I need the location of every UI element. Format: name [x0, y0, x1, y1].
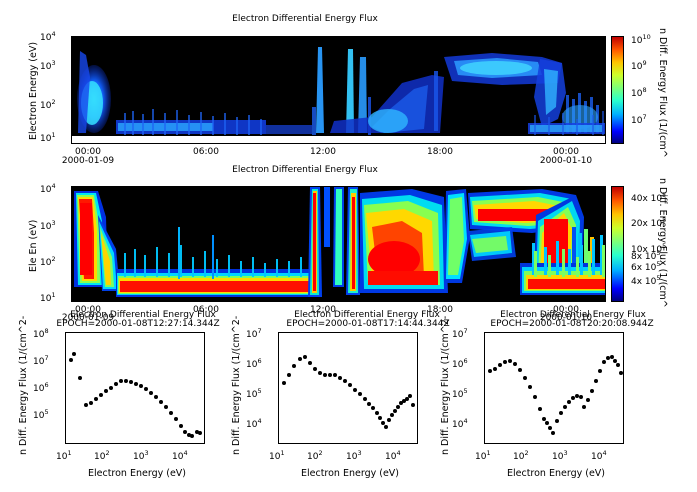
spectrum-1-xtick-1: 101: [56, 452, 72, 462]
spectrum-3-xtick-1: 101: [475, 452, 491, 462]
spectrum-1-xtick-4: 104: [172, 452, 188, 462]
spectrum-1-ylabel: n Diff. Energy Flux (1/(cm^2-: [18, 316, 29, 455]
spectrum-3-xtick-2: 102: [513, 452, 529, 462]
spectrum-3-plot[interactable]: [484, 332, 624, 444]
spectrum-2-ytick-4: 104: [246, 420, 262, 430]
mid-ytick-2: 102: [40, 258, 56, 268]
spectrum-3-ytick-6: 106: [452, 360, 468, 370]
spectrum-2-points: [279, 333, 417, 443]
spectrum-2-xtick-4: 104: [385, 452, 401, 462]
top-panel-ylabel: Electron Energy (eV): [28, 42, 39, 140]
top-spectrogram-image: [72, 37, 605, 143]
spectrum-1-ytick-8: 108: [33, 330, 49, 340]
spectrum-2-ytick-5: 105: [246, 390, 262, 400]
top-cbtick-9: 109: [631, 62, 647, 72]
spectrum-3-xtick-4: 104: [591, 452, 607, 462]
mid-panel-title: Electron Differential Energy Flux: [155, 165, 455, 175]
mid-colorbar[interactable]: [611, 186, 624, 302]
top-ytick-3: 103: [40, 62, 56, 72]
top-spectrogram-plot[interactable]: [71, 36, 606, 144]
spectrum-1-xlabel: Electron Energy (eV): [72, 468, 202, 479]
spectrum-3-ytick-7: 107: [452, 330, 468, 340]
spectrum-1-ytick-7: 107: [33, 357, 49, 367]
mid-colorbar-label: n Diff. Energy Flux (1/(cm^: [657, 178, 668, 308]
top-panel-title: Electron Differential Energy Flux: [155, 14, 455, 24]
top-colorbar[interactable]: [611, 36, 624, 144]
top-xdate-right: 2000-01-10: [530, 156, 602, 166]
spectrum-2-ytick-6: 106: [246, 360, 262, 370]
spectrum-1-xtick-2: 102: [94, 452, 110, 462]
mid-panel-ylabel: Ele En (eV): [28, 220, 39, 272]
spectrum-3-xtick-3: 103: [552, 452, 568, 462]
top-xtick-2: 12:00: [297, 147, 349, 157]
top-ytick-1: 101: [40, 134, 56, 144]
mid-colorbar-label-wrap: n Diff. Energy Flux (1/(cm^: [668, 178, 697, 189]
top-xdate-left: 2000-01-09: [52, 156, 124, 166]
mid-ytick-1: 101: [40, 294, 56, 304]
mid-spectrogram-image: [72, 187, 605, 301]
spectrum-2-xlabel: Electron Energy (eV): [285, 468, 415, 479]
spectrum-1-xtick-3: 103: [133, 452, 149, 462]
spectrum-2-ylabel: n Diff. Energy Flux (1/(cm^2-: [231, 316, 242, 455]
spectrum-3-subtitle: EPOCH=2000-01-08T20:20:08.944Z: [452, 319, 692, 329]
spectrum-2-ytick-7: 107: [246, 330, 262, 340]
mid-spectrogram-plot[interactable]: [71, 186, 606, 302]
spectrum-3-ylabel: n Diff. Energy Flux (1/(cm^2-: [440, 316, 451, 455]
spectrum-1-ytick-5: 105: [33, 411, 49, 421]
spectrum-1-ytick-6: 106: [33, 384, 49, 394]
mid-colorbar-gradient: [612, 187, 623, 301]
spectrum-1-plot[interactable]: [65, 332, 205, 444]
spectrum-1-points: [66, 333, 204, 443]
top-xtick-3: 18:00: [414, 147, 466, 157]
spectrum-2-xtick-1: 101: [269, 452, 285, 462]
top-colorbar-gradient: [612, 37, 623, 143]
spectrum-1-subtitle: EPOCH=2000-01-08T12:27:14.344Z: [18, 319, 258, 329]
spectrum-2-xtick-3: 103: [346, 452, 362, 462]
top-cbtick-10: 1010: [631, 36, 651, 46]
spectrum-3-xlabel: Electron Energy (eV): [491, 468, 621, 479]
spectrum-3-ytick-5: 105: [452, 390, 468, 400]
top-cbtick-7: 107: [631, 116, 647, 126]
mid-ytick-3: 103: [40, 222, 56, 232]
top-cbtick-8: 108: [631, 89, 647, 99]
top-ytick-4: 104: [40, 33, 56, 43]
mid-ytick-4: 104: [40, 185, 56, 195]
top-xtick-1: 06:00: [180, 147, 232, 157]
spectrum-2-plot[interactable]: [278, 332, 418, 444]
spectrum-3-points: [485, 333, 623, 443]
top-colorbar-label-wrap: n Diff. Energy Flux (1/(cm^: [668, 28, 697, 39]
top-colorbar-label: n Diff. Energy Flux (1/(cm^: [657, 28, 668, 158]
spectrum-3-ytick-4: 104: [452, 420, 468, 430]
spectrum-2-xtick-2: 102: [307, 452, 323, 462]
top-ytick-2: 102: [40, 101, 56, 111]
